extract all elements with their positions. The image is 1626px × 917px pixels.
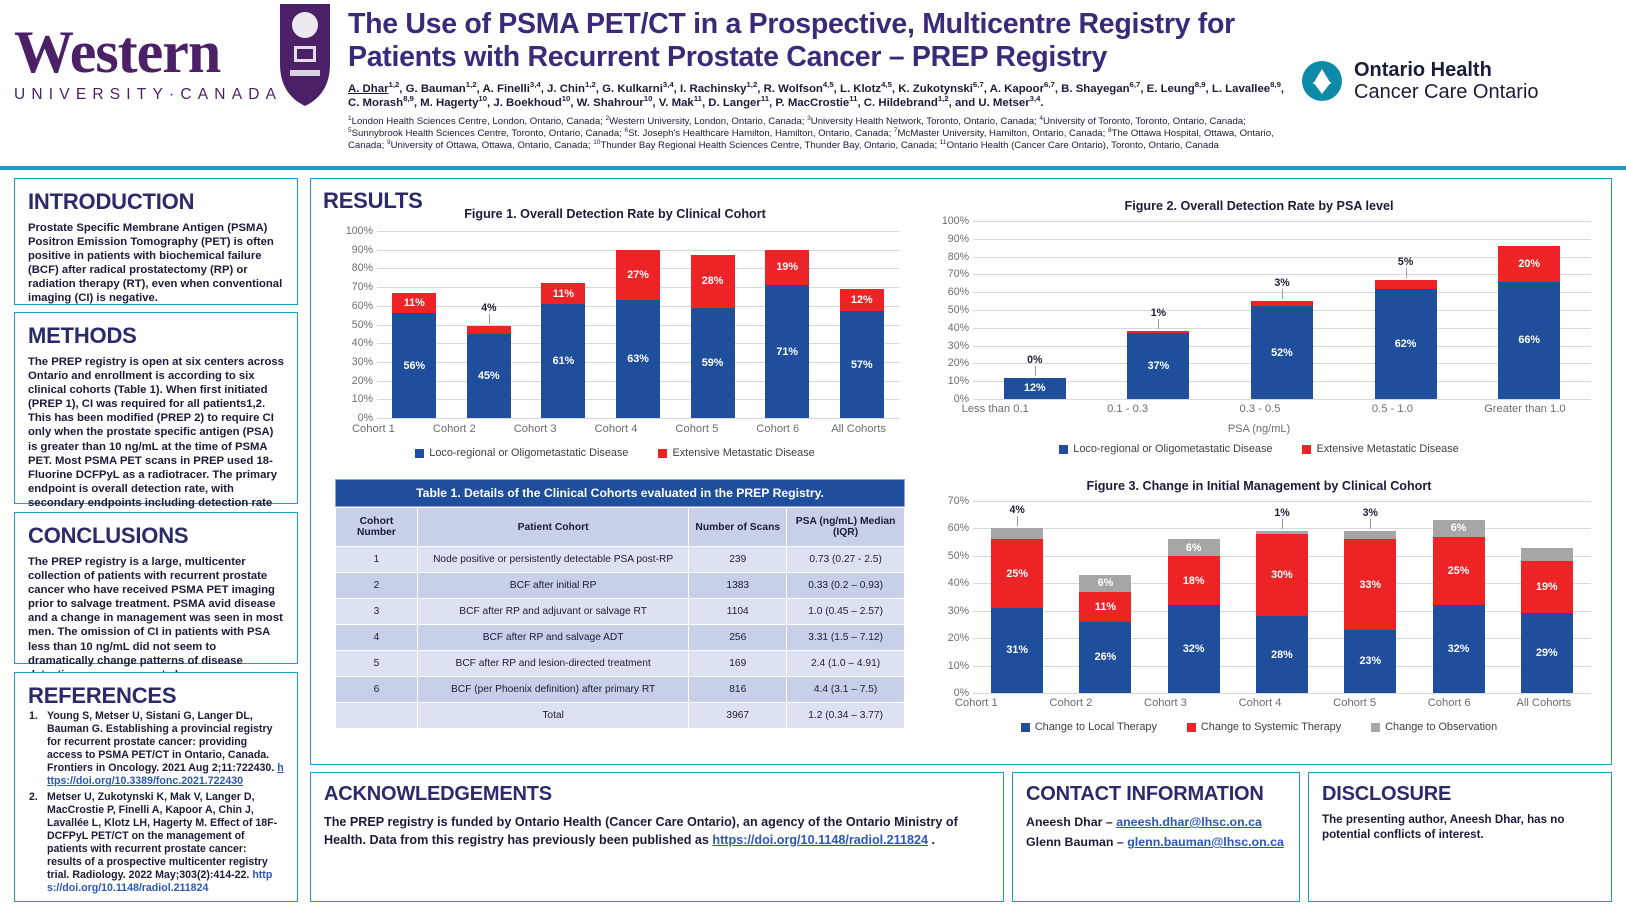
y-axis-tick-label: 50%: [948, 304, 969, 316]
contact-person-2: Glenn Bauman – glenn.bauman@lhsc.on.ca: [1026, 832, 1286, 852]
affiliations-list: 1London Health Sciences Centre, London, …: [348, 116, 1298, 151]
stacked-bar[interactable]: 61%11%: [541, 283, 585, 418]
bar-segment: 31%: [991, 608, 1043, 693]
data-callout-label: 4%: [481, 302, 496, 314]
legend-swatch-icon: [1302, 445, 1311, 454]
bar-segment: 45%: [467, 334, 511, 418]
figure-3-x-axis-labels: Cohort 1Cohort 2Cohort 3Cohort 4Cohort 5…: [929, 697, 1591, 709]
x-axis-tick-label: Cohort 6: [737, 423, 818, 435]
legend-swatch-icon: [1371, 723, 1380, 732]
bars-container: 31%25%4%26%11%6%32%18%6%28%30%1%23%33%3%…: [973, 501, 1591, 693]
list-item: Metser U, Zukotynski K, Mak V, Langer D,…: [28, 791, 284, 896]
western-shield-icon: [276, 2, 334, 108]
bar-slot: 71%19%: [750, 231, 825, 418]
callout-leader-line: [1370, 519, 1371, 529]
y-axis-tick-label: 60%: [352, 300, 373, 312]
table-cell: 0.73 (0.27 - 2.5): [787, 547, 905, 573]
figure-3: Figure 3. Change in Initial Management b…: [921, 479, 1597, 754]
legend-label: Loco-regional or Oligometastatic Disease: [429, 447, 628, 459]
gridline: [377, 418, 899, 419]
legend-item[interactable]: Change to Observation: [1371, 721, 1497, 733]
legend-label: Change to Systemic Therapy: [1201, 721, 1341, 733]
bar-segment: 32%: [1433, 605, 1485, 693]
y-axis-tick-label: 60%: [948, 522, 969, 534]
x-axis-tick-label: Cohort 1: [333, 423, 414, 435]
bar-slot: 23%33%3%: [1326, 501, 1414, 693]
y-axis-tick-label: 10%: [352, 393, 373, 405]
callout-leader-line: [1406, 268, 1407, 278]
bar-segment: 26%: [1079, 622, 1131, 693]
callout-leader-line: [1282, 519, 1283, 529]
references-heading: REFERENCES: [28, 683, 284, 709]
legend-swatch-icon: [1021, 723, 1030, 732]
figure-3-title: Figure 3. Change in Initial Management b…: [921, 479, 1597, 493]
x-axis-tick-label: Cohort 6: [1402, 697, 1497, 709]
title-block: The Use of PSMA PET/CT in a Prospective,…: [348, 8, 1298, 151]
y-axis-tick-label: 20%: [948, 632, 969, 644]
bar-segment: 12%: [840, 289, 884, 311]
bar-segment: 25%: [991, 539, 1043, 608]
bar-slot: 45%4%: [452, 231, 527, 418]
bar-segment: 57%: [840, 311, 884, 418]
contact-person-1-name: Aneesh Dhar –: [1026, 815, 1116, 829]
stacked-bar[interactable]: 59%28%: [691, 255, 735, 418]
y-axis-tick-label: 20%: [352, 375, 373, 387]
y-axis-tick-label: 10%: [948, 375, 969, 387]
legend-item[interactable]: Extensive Metastatic Disease: [658, 447, 814, 459]
x-axis-tick-label: All Cohorts: [818, 423, 899, 435]
y-axis-tick-label: 70%: [352, 281, 373, 293]
bar-segment: 19%: [765, 250, 809, 286]
contact-person-2-name: Glenn Bauman –: [1026, 835, 1127, 849]
stacked-bar[interactable]: 28%30%: [1256, 531, 1308, 693]
bar-segment: 56%: [392, 313, 436, 418]
stacked-bar[interactable]: 23%33%: [1344, 531, 1396, 693]
table-cell: 1104: [689, 599, 787, 625]
contact-person-1: Aneesh Dhar – aneesh.dhar@lhsc.on.ca: [1026, 812, 1286, 832]
table-cell: 3.31 (1.5 – 7.12): [787, 625, 905, 651]
table-row: 3BCF after RP and adjuvant or salvage RT…: [336, 599, 905, 625]
table-cell: 4.4 (3.1 – 7.5): [787, 677, 905, 703]
author-list: A. Dhar1,2, G. Bauman1,2, A. Finelli3,4,…: [348, 82, 1298, 110]
stacked-bar[interactable]: 31%25%: [991, 528, 1043, 693]
stacked-bar[interactable]: 45%: [467, 326, 511, 418]
bar-slot: 56%11%: [377, 231, 452, 418]
legend-item[interactable]: Change to Local Therapy: [1021, 721, 1157, 733]
bar-slot: 59%28%: [675, 231, 750, 418]
author-list-rest: , G. Bauman1,2, A. Finelli3,4, J. Chin1,…: [348, 83, 1284, 109]
bar-segment: 6%: [1079, 575, 1131, 591]
disclosure-heading: DISCLOSURE: [1322, 783, 1598, 806]
data-callout-label: 3%: [1363, 507, 1378, 519]
x-axis-tick-label: Cohort 3: [1118, 697, 1213, 709]
table-cell: BCF after RP and salvage ADT: [417, 625, 688, 651]
column-header-number-of-scans: Number of Scans: [689, 508, 787, 547]
callout-leader-line: [1035, 366, 1036, 376]
stacked-bar[interactable]: 66%20%: [1498, 246, 1560, 399]
x-axis-tick-label: Cohort 4: [1213, 697, 1308, 709]
legend-swatch-icon: [1059, 445, 1068, 454]
x-axis-tick-label: Less than 0.1: [929, 403, 1061, 415]
y-axis-tick-label: 40%: [352, 337, 373, 349]
legend-item[interactable]: Loco-regional or Oligometastatic Disease: [1059, 443, 1272, 455]
table-cell: 0.33 (0.2 – 0.93): [787, 573, 905, 599]
poster-header: Western UNIVERSITY·CANADA The Use of PSM…: [0, 0, 1626, 168]
legend-label: Extensive Metastatic Disease: [1316, 443, 1458, 455]
y-axis-tick-label: 40%: [948, 322, 969, 334]
data-callout-label: 1%: [1151, 307, 1166, 319]
figure-1-legend: Loco-regional or Oligometastatic Disease…: [325, 447, 905, 459]
column-header-psa-median: PSA (ng/mL) Median (IQR): [787, 508, 905, 547]
bar-slot: 28%30%1%: [1238, 501, 1326, 693]
acknowledgements-doi-link[interactable]: https://doi.org/10.1148/radiol.211824: [712, 833, 928, 847]
bar-segment: 20%: [1498, 246, 1560, 282]
figure-2-title: Figure 2. Overall Detection Rate by PSA …: [921, 199, 1597, 213]
acknowledgements-panel: ACKNOWLEDGEMENTS The PREP registry is fu…: [310, 772, 1004, 902]
table-1: Table 1. Details of the Clinical Cohorts…: [335, 479, 905, 729]
conclusions-body: The PREP registry is a large, multicente…: [28, 555, 284, 682]
bar-segment: 6%: [1168, 539, 1220, 555]
x-axis-tick-label: 0.5 - 1.0: [1326, 403, 1458, 415]
results-panel: RESULTS Figure 1. Overall Detection Rate…: [310, 178, 1612, 765]
bar-segment: 59%: [691, 308, 735, 418]
table-cell: BCF (per Phoenix definition) after prima…: [417, 677, 688, 703]
stacked-bar[interactable]: 12%: [1004, 378, 1066, 399]
table-cell: 3967: [689, 703, 787, 729]
bar-slot: 29%19%: [1503, 501, 1591, 693]
x-axis-tick-label: Cohort 2: [414, 423, 495, 435]
ontario-health-name: Ontario Health: [1354, 59, 1539, 81]
stacked-bar[interactable]: 29%19%: [1521, 548, 1573, 693]
bar-segment: 12%: [1004, 378, 1066, 399]
methods-heading: METHODS: [28, 323, 284, 349]
bars-container: 56%11%45%4%61%11%63%27%59%28%71%19%57%12…: [377, 231, 899, 418]
reference-text: Young S, Metser U, Sistani G, Langer DL,…: [47, 710, 274, 774]
bar-segment: 11%: [392, 293, 436, 314]
table-row: 1Node positive or persistently detectabl…: [336, 547, 905, 573]
legend-swatch-icon: [1187, 723, 1196, 732]
bar-segment: 61%: [541, 304, 585, 418]
table-cell: 816: [689, 677, 787, 703]
figure-1: Figure 1. Overall Detection Rate by Clin…: [325, 207, 905, 472]
table-cell: [336, 703, 418, 729]
bar-segment: 33%: [1344, 539, 1396, 630]
data-callout-label: 4%: [1009, 504, 1024, 516]
table-row: Total39671.2 (0.34 – 3.77): [336, 703, 905, 729]
data-callout-label: 5%: [1398, 256, 1413, 268]
legend-item[interactable]: Change to Systemic Therapy: [1187, 721, 1341, 733]
bar-segment: 30%: [1256, 534, 1308, 616]
bar-slot: 12%0%: [973, 221, 1097, 399]
bar-slot: 26%11%6%: [1061, 501, 1149, 693]
bar-slot: 37%1%: [1097, 221, 1221, 399]
y-axis-tick-label: 60%: [948, 286, 969, 298]
bar-segment: 18%: [1168, 556, 1220, 605]
table-cell: 3: [336, 599, 418, 625]
bar-segment: [1344, 531, 1396, 539]
bars-container: 12%0%37%1%52%3%62%5%66%20%: [973, 221, 1591, 399]
data-callout-label: 1%: [1274, 507, 1289, 519]
table-cell: 2: [336, 573, 418, 599]
y-axis-tick-label: 100%: [346, 225, 373, 237]
figure-2-x-axis-labels: Less than 0.10.1 - 0.30.3 - 0.50.5 - 1.0…: [929, 403, 1591, 415]
table-1-body: 1Node positive or persistently detectabl…: [336, 547, 905, 729]
acknowledgements-heading: ACKNOWLEDGEMENTS: [324, 783, 990, 806]
reference-text: Metser U, Zukotynski K, Mak V, Langer D,…: [47, 791, 277, 882]
introduction-panel: INTRODUCTION Prostate Specific Membrane …: [14, 178, 298, 305]
bar-slot: 66%20%: [1467, 221, 1591, 399]
column-header-patient-cohort: Patient Cohort: [417, 508, 688, 547]
callout-leader-line: [1017, 516, 1018, 526]
bar-segment: 28%: [1256, 616, 1308, 693]
references-panel: REFERENCES Young S, Metser U, Sistani G,…: [14, 672, 298, 902]
stacked-bar[interactable]: 63%27%: [616, 250, 660, 418]
conclusions-panel: CONCLUSIONS The PREP registry is a large…: [14, 512, 298, 664]
bar-segment: 62%: [1375, 289, 1437, 399]
bar-segment: 25%: [1433, 537, 1485, 606]
stacked-bar[interactable]: 32%18%6%: [1168, 539, 1220, 693]
stacked-bar[interactable]: 62%: [1375, 280, 1437, 399]
figure-3-legend: Change to Local TherapyChange to Systemi…: [921, 721, 1597, 733]
table-cell: 1383: [689, 573, 787, 599]
legend-label: Change to Observation: [1385, 721, 1497, 733]
gridline: [973, 693, 1591, 694]
bar-segment: 6%: [1433, 520, 1485, 536]
stacked-bar[interactable]: 37%: [1127, 331, 1189, 399]
y-axis-tick-label: 80%: [948, 251, 969, 263]
stacked-bar[interactable]: 56%11%: [392, 293, 436, 418]
methods-panel: METHODS The PREP registry is open at six…: [14, 312, 298, 504]
bar-slot: 52%3%: [1220, 221, 1344, 399]
table-cell: 5: [336, 651, 418, 677]
x-axis-tick-label: All Cohorts: [1496, 697, 1591, 709]
table-header-row: Cohort Number Patient Cohort Number of S…: [336, 508, 905, 547]
contact-information-panel: CONTACT INFORMATION Aneesh Dhar – aneesh…: [1012, 772, 1300, 902]
acknowledgements-text-tail: .: [928, 833, 935, 847]
figure-3-plot-area: 0%10%20%30%40%50%60%70%31%25%4%26%11%6%3…: [929, 501, 1591, 693]
bar-segment: 29%: [1521, 613, 1573, 693]
y-axis-tick-label: 70%: [948, 268, 969, 280]
bar-segment: 52%: [1251, 306, 1313, 399]
gridline: [973, 399, 1591, 400]
figure-2: Figure 2. Overall Detection Rate by PSA …: [921, 199, 1597, 467]
x-axis-tick-label: Cohort 1: [929, 697, 1024, 709]
bar-segment: 11%: [1079, 592, 1131, 622]
bar-segment: 19%: [1521, 561, 1573, 613]
bar-slot: 57%12%: [824, 231, 899, 418]
header-divider: [0, 166, 1626, 170]
bar-segment: [1521, 548, 1573, 562]
conclusions-heading: CONCLUSIONS: [28, 523, 284, 549]
bar-slot: 62%5%: [1344, 221, 1468, 399]
x-axis-tick-label: 0.3 - 0.5: [1194, 403, 1326, 415]
bar-slot: 61%11%: [526, 231, 601, 418]
page-title: The Use of PSMA PET/CT in a Prospective,…: [348, 8, 1298, 74]
x-axis-tick-label: Cohort 4: [576, 423, 657, 435]
column-header-cohort-number: Cohort Number: [336, 508, 418, 547]
bar-segment: 66%: [1498, 282, 1560, 399]
reference-list: Young S, Metser U, Sistani G, Langer DL,…: [28, 710, 284, 895]
bar-segment: 37%: [1127, 333, 1189, 399]
figure-2-plot-area: 0%10%20%30%40%50%60%70%80%90%100%12%0%37…: [929, 221, 1591, 399]
introduction-heading: INTRODUCTION: [28, 189, 284, 215]
legend-label: Loco-regional or Oligometastatic Disease: [1073, 443, 1272, 455]
contact-heading: CONTACT INFORMATION: [1026, 783, 1286, 806]
table-1-caption: Table 1. Details of the Clinical Cohorts…: [335, 479, 905, 507]
table-cell: 256: [689, 625, 787, 651]
legend-item[interactable]: Loco-regional or Oligometastatic Disease: [415, 447, 628, 459]
table-cell: BCF after RP and adjuvant or salvage RT: [417, 599, 688, 625]
stacked-bar[interactable]: 52%: [1251, 301, 1313, 399]
figure-1-plot-area: 0%10%20%30%40%50%60%70%80%90%100%56%11%4…: [333, 231, 899, 418]
table-row: 6BCF (per Phoenix definition) after prim…: [336, 677, 905, 703]
y-axis-tick-label: 100%: [942, 215, 969, 227]
y-axis-tick-label: 50%: [948, 550, 969, 562]
table-row: 2BCF after initial RP13830.33 (0.2 – 0.9…: [336, 573, 905, 599]
stacked-bar[interactable]: 32%25%6%: [1433, 520, 1485, 693]
y-axis-tick-label: 70%: [948, 495, 969, 507]
x-axis-tick-label: Greater than 1.0: [1459, 403, 1591, 415]
figure-1-title: Figure 1. Overall Detection Rate by Clin…: [325, 207, 905, 221]
y-axis-tick-label: 50%: [352, 319, 373, 331]
x-axis-tick-label: Cohort 2: [1024, 697, 1119, 709]
cancer-care-ontario-name: Cancer Care Ontario: [1354, 81, 1539, 104]
bar-segment: [991, 528, 1043, 539]
bar-segment: 11%: [541, 283, 585, 304]
ontario-health-mark-icon: [1302, 61, 1342, 101]
list-item: Young S, Metser U, Sistani G, Langer DL,…: [28, 710, 284, 789]
legend-label: Change to Local Therapy: [1035, 721, 1157, 733]
table-cell: 169: [689, 651, 787, 677]
bar-segment: 71%: [765, 285, 809, 418]
stacked-bar[interactable]: 26%11%6%: [1079, 575, 1131, 693]
introduction-body: Prostate Specific Membrane Antigen (PSMA…: [28, 221, 284, 306]
figure-2-x-axis-title: PSA (ng/mL): [921, 423, 1597, 435]
table-cell: 6: [336, 677, 418, 703]
acknowledgements-body: The PREP registry is funded by Ontario H…: [324, 813, 990, 849]
poster-root: Western UNIVERSITY·CANADA The Use of PSM…: [0, 0, 1626, 917]
bar-slot: 32%25%6%: [1414, 501, 1502, 693]
bar-slot: 32%18%6%: [1150, 501, 1238, 693]
bar-segment: [467, 326, 511, 333]
bar-segment: 23%: [1344, 630, 1396, 693]
x-axis-tick-label: 0.1 - 0.3: [1061, 403, 1193, 415]
callout-leader-line: [1158, 319, 1159, 329]
legend-swatch-icon: [415, 449, 424, 458]
y-axis-tick-label: 20%: [948, 357, 969, 369]
y-axis-tick-label: 10%: [948, 660, 969, 672]
bar-segment: 27%: [616, 250, 660, 300]
bar-segment: 63%: [616, 300, 660, 418]
table-cell: 1: [336, 547, 418, 573]
contact-person-1-email[interactable]: aneesh.dhar@lhsc.on.ca: [1116, 815, 1262, 829]
table-cell: 239: [689, 547, 787, 573]
table-cell: 1.2 (0.34 – 3.77): [787, 703, 905, 729]
presenting-author: A. Dhar: [348, 83, 389, 95]
figure-1-x-axis-labels: Cohort 1Cohort 2Cohort 3Cohort 4Cohort 5…: [333, 423, 899, 435]
bar-slot: 31%25%4%: [973, 501, 1061, 693]
x-axis-tick-label: Cohort 5: [1307, 697, 1402, 709]
x-axis-tick-label: Cohort 3: [495, 423, 576, 435]
y-axis-tick-label: 30%: [948, 340, 969, 352]
table-cell: 4: [336, 625, 418, 651]
stacked-bar[interactable]: 71%19%: [765, 250, 809, 418]
table-row: 4BCF after RP and salvage ADT2563.31 (1.…: [336, 625, 905, 651]
callout-leader-line: [489, 314, 490, 324]
bar-segment: [1375, 280, 1437, 289]
table-cell: Total: [417, 703, 688, 729]
legend-swatch-icon: [658, 449, 667, 458]
y-axis-tick-label: 30%: [352, 356, 373, 368]
callout-leader-line: [1282, 289, 1283, 299]
table-cell: 2.4 (1.0 – 4.91): [787, 651, 905, 677]
data-callout-label: 0%: [1027, 354, 1042, 366]
y-axis-tick-label: 30%: [948, 605, 969, 617]
x-axis-tick-label: Cohort 5: [656, 423, 737, 435]
table-row: 5BCF after RP and lesion-directed treatm…: [336, 651, 905, 677]
y-axis-tick-label: 80%: [352, 262, 373, 274]
stacked-bar[interactable]: 57%12%: [840, 289, 884, 418]
ontario-health-logo: Ontario Health Cancer Care Ontario: [1302, 50, 1612, 112]
legend-item[interactable]: Extensive Metastatic Disease: [1302, 443, 1458, 455]
disclosure-panel: DISCLOSURE The presenting author, Aneesh…: [1308, 772, 1612, 902]
bar-segment: 28%: [691, 255, 735, 307]
bar-segment: 32%: [1168, 605, 1220, 693]
table-cell: Node positive or persistently detectable…: [417, 547, 688, 573]
legend-label: Extensive Metastatic Disease: [672, 447, 814, 459]
disclosure-body: The presenting author, Aneesh Dhar, has …: [1322, 812, 1598, 843]
y-axis-tick-label: 90%: [948, 233, 969, 245]
y-axis-tick-label: 90%: [352, 244, 373, 256]
data-callout-label: 3%: [1274, 277, 1289, 289]
y-axis-tick-label: 40%: [948, 577, 969, 589]
figure-2-legend: Loco-regional or Oligometastatic Disease…: [921, 443, 1597, 455]
bar-slot: 63%27%: [601, 231, 676, 418]
table-cell: BCF after initial RP: [417, 573, 688, 599]
table-cell: 1.0 (0.45 – 2.57): [787, 599, 905, 625]
table-cell: BCF after RP and lesion-directed treatme…: [417, 651, 688, 677]
contact-person-2-email[interactable]: glenn.bauman@lhsc.on.ca: [1127, 835, 1284, 849]
